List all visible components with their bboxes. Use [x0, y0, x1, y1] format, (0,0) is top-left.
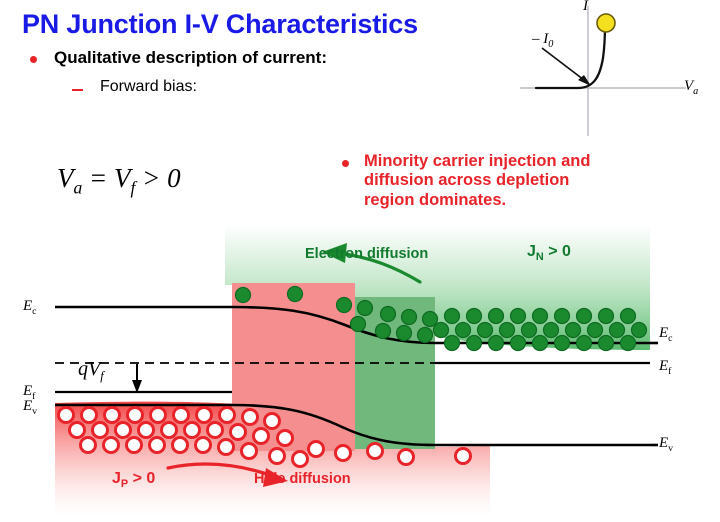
bullet-level1-label: Qualitative description of current: [54, 48, 327, 68]
equation-eq: = V [82, 163, 130, 193]
bullet-level2-label: Forward bias: [100, 78, 197, 96]
page-title: PN Junction I-V Characteristics [22, 9, 418, 40]
iv-saturation-label: – I0 [532, 31, 553, 50]
label-ec-right-sub: c [668, 333, 672, 344]
label-ev-right: Ev [659, 435, 673, 454]
bullet-level2: Forward bias: [72, 78, 197, 96]
iv-curve-svg [500, 0, 720, 140]
bullet-dot-icon [342, 160, 349, 167]
label-qvf: qVf [78, 358, 104, 384]
label-ef-right-main: E [659, 358, 668, 374]
label-hole-diffusion: Hole diffusion [254, 471, 351, 487]
bullet-level1: Qualitative description of current: [30, 48, 327, 68]
label-qvf-main: qV [78, 358, 100, 380]
iv-curve-inset: I Va – I0 [500, 0, 720, 140]
label-electron-diffusion: Electron diffusion [305, 246, 428, 262]
label-jn-main: J [527, 243, 536, 260]
label-ev-right-main: E [659, 435, 668, 451]
minority-carrier-note-text: Minority carrier injection and diffusion… [364, 152, 590, 210]
iv-saturation-label-main: – I [532, 31, 548, 47]
label-ev-left: Ev [23, 398, 37, 417]
label-ev-left-main: E [23, 398, 32, 414]
label-ef-right: Ef [659, 358, 671, 377]
label-ec-right-main: E [659, 325, 668, 341]
iv-x-axis-label: Va [684, 78, 698, 97]
band-diagram-svg [0, 225, 720, 517]
iv-operating-point-marker [597, 14, 615, 32]
equation-va-sub: a [74, 177, 83, 197]
label-ec-right: Ec [659, 325, 673, 344]
band-diagram [0, 225, 720, 522]
note-line-1: Minority carrier injection and [364, 152, 590, 171]
iv-x-axis-label-sub: a [693, 86, 698, 97]
bullet-dash-icon [72, 89, 83, 91]
label-jn: JN > 0 [527, 243, 571, 263]
label-jp: JP > 0 [112, 470, 155, 490]
note-line-3: region dominates. [364, 191, 590, 210]
label-ev-right-sub: v [668, 443, 673, 454]
label-jp-tail: > 0 [128, 470, 155, 487]
label-qvf-sub: f [100, 369, 103, 383]
bullet-dot-icon [30, 56, 37, 63]
equation-va: V [57, 163, 74, 193]
iv-x-axis-label-main: V [684, 78, 693, 94]
equation-tail: > 0 [135, 163, 180, 193]
label-ev-left-sub: v [32, 406, 37, 417]
label-jp-main: J [112, 470, 121, 487]
label-ec-left: Ec [23, 298, 37, 317]
note-line-2: diffusion across depletion [364, 171, 590, 190]
label-ef-right-sub: f [668, 366, 671, 377]
label-jn-tail: > 0 [544, 243, 571, 260]
label-ec-left-main: E [23, 298, 32, 314]
label-ec-left-sub: c [32, 306, 36, 317]
iv-saturation-label-sub: 0 [548, 39, 553, 50]
minority-carrier-note: Minority carrier injection and diffusion… [342, 152, 692, 210]
iv-y-axis-label: I [583, 0, 588, 15]
bias-equation: Va = Vf > 0 [57, 163, 181, 198]
label-jn-sub: N [536, 251, 544, 263]
label-ef-left-main: E [23, 383, 32, 399]
